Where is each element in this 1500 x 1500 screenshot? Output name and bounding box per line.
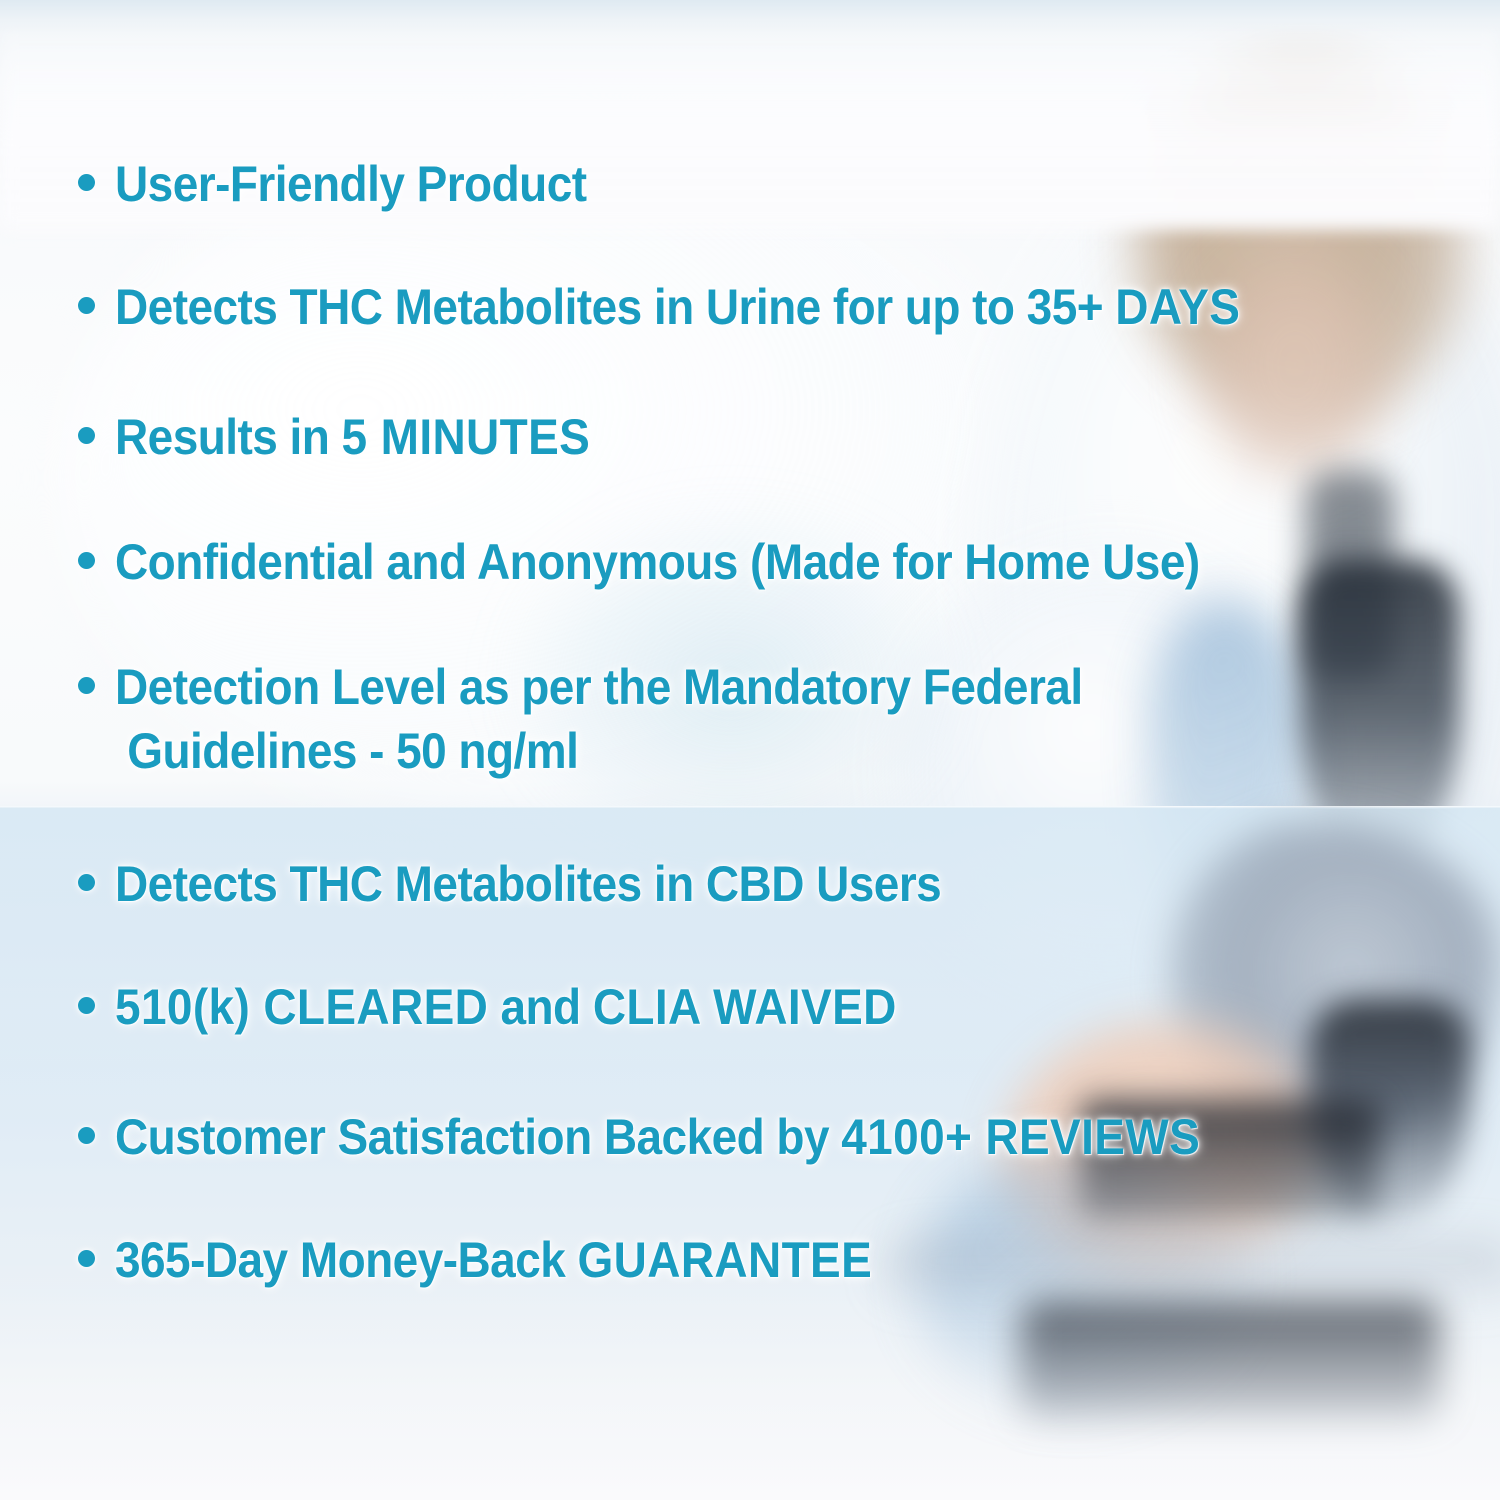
bullet-icon	[78, 552, 95, 569]
emphasis-text: DAYS	[1115, 279, 1240, 335]
plain-text: Detects THC Metabolites in CBD Users	[115, 856, 941, 912]
feature-item-detection-level-federal-guidelines: Detection Level as per the Mandatory Fed…	[78, 655, 1167, 783]
bullet-icon	[78, 297, 95, 314]
bullet-icon	[78, 677, 95, 694]
feature-item-user-friendly-product: User-Friendly Product	[78, 152, 628, 216]
emphasis-text: CLIA WAIVED	[593, 979, 897, 1035]
feature-item-label: 365-Day Money-Back GUARANTEE	[115, 1228, 872, 1292]
plain-text: Results in	[115, 409, 342, 465]
plain-text: Confidential and Anonymous (Made for Hom…	[115, 534, 1200, 590]
plain-text: 365-Day Money-Back	[115, 1232, 578, 1288]
plain-text: Guidelines - 50 ng/ml	[115, 723, 578, 779]
feature-item-label: User-Friendly Product	[115, 152, 587, 216]
plain-text: and	[488, 979, 593, 1035]
feature-item-label: Detects THC Metabolites in CBD Users	[115, 852, 941, 916]
feature-item-results-in-5-minutes: Results in 5 MINUTES	[78, 405, 632, 469]
feature-item-label: Confidential and Anonymous (Made for Hom…	[115, 530, 1200, 594]
plain-text: Detection Level as per the Mandatory Fed…	[115, 659, 1083, 715]
emphasis-text: 4100+ REVIEWS	[841, 1109, 1200, 1165]
bullet-icon	[78, 427, 95, 444]
plain-text: Customer Satisfaction Backed by	[115, 1109, 841, 1165]
emphasis-text: 5 MINUTES	[342, 409, 591, 465]
feature-item-label: 510(k) CLEARED and CLIA WAIVED	[115, 975, 897, 1039]
bullet-icon	[78, 1250, 95, 1267]
bullet-icon	[78, 174, 95, 191]
feature-item-label: Customer Satisfaction Backed by 4100+ RE…	[115, 1105, 1200, 1169]
feature-item-detects-thc-urine: Detects THC Metabolites in Urine for up …	[78, 275, 1338, 339]
feature-item-money-back-guarantee: 365-Day Money-Back GUARANTEE	[78, 1228, 938, 1292]
feature-item-label: Detection Level as per the Mandatory Fed…	[115, 655, 1083, 783]
emphasis-text: 510(k) CLEARED	[115, 979, 488, 1035]
feature-item-detects-thc-cbd-users: Detects THC Metabolites in CBD Users	[78, 852, 1013, 916]
feature-bullet-list: User-Friendly ProductDetects THC Metabol…	[0, 0, 1500, 1500]
emphasis-text: GUARANTEE	[578, 1232, 873, 1288]
bullet-icon	[78, 1127, 95, 1144]
feature-item-510k-cleared-clia-waived: 510(k) CLEARED and CLIA WAIVED	[78, 975, 965, 1039]
bullet-icon	[78, 874, 95, 891]
feature-list-graphic: User-Friendly ProductDetects THC Metabol…	[0, 0, 1500, 1500]
feature-item-customer-satisfaction-reviews: Customer Satisfaction Backed by 4100+ RE…	[78, 1105, 1295, 1169]
plain-text: User-Friendly Product	[115, 156, 587, 212]
feature-item-label: Detects THC Metabolites in Urine for up …	[115, 275, 1240, 339]
feature-item-confidential-anonymous: Confidential and Anonymous (Made for Hom…	[78, 530, 1294, 594]
feature-item-label: Results in 5 MINUTES	[115, 405, 590, 469]
plain-text: Detects THC Metabolites in Urine for up …	[115, 279, 1115, 335]
bullet-icon	[78, 997, 95, 1014]
